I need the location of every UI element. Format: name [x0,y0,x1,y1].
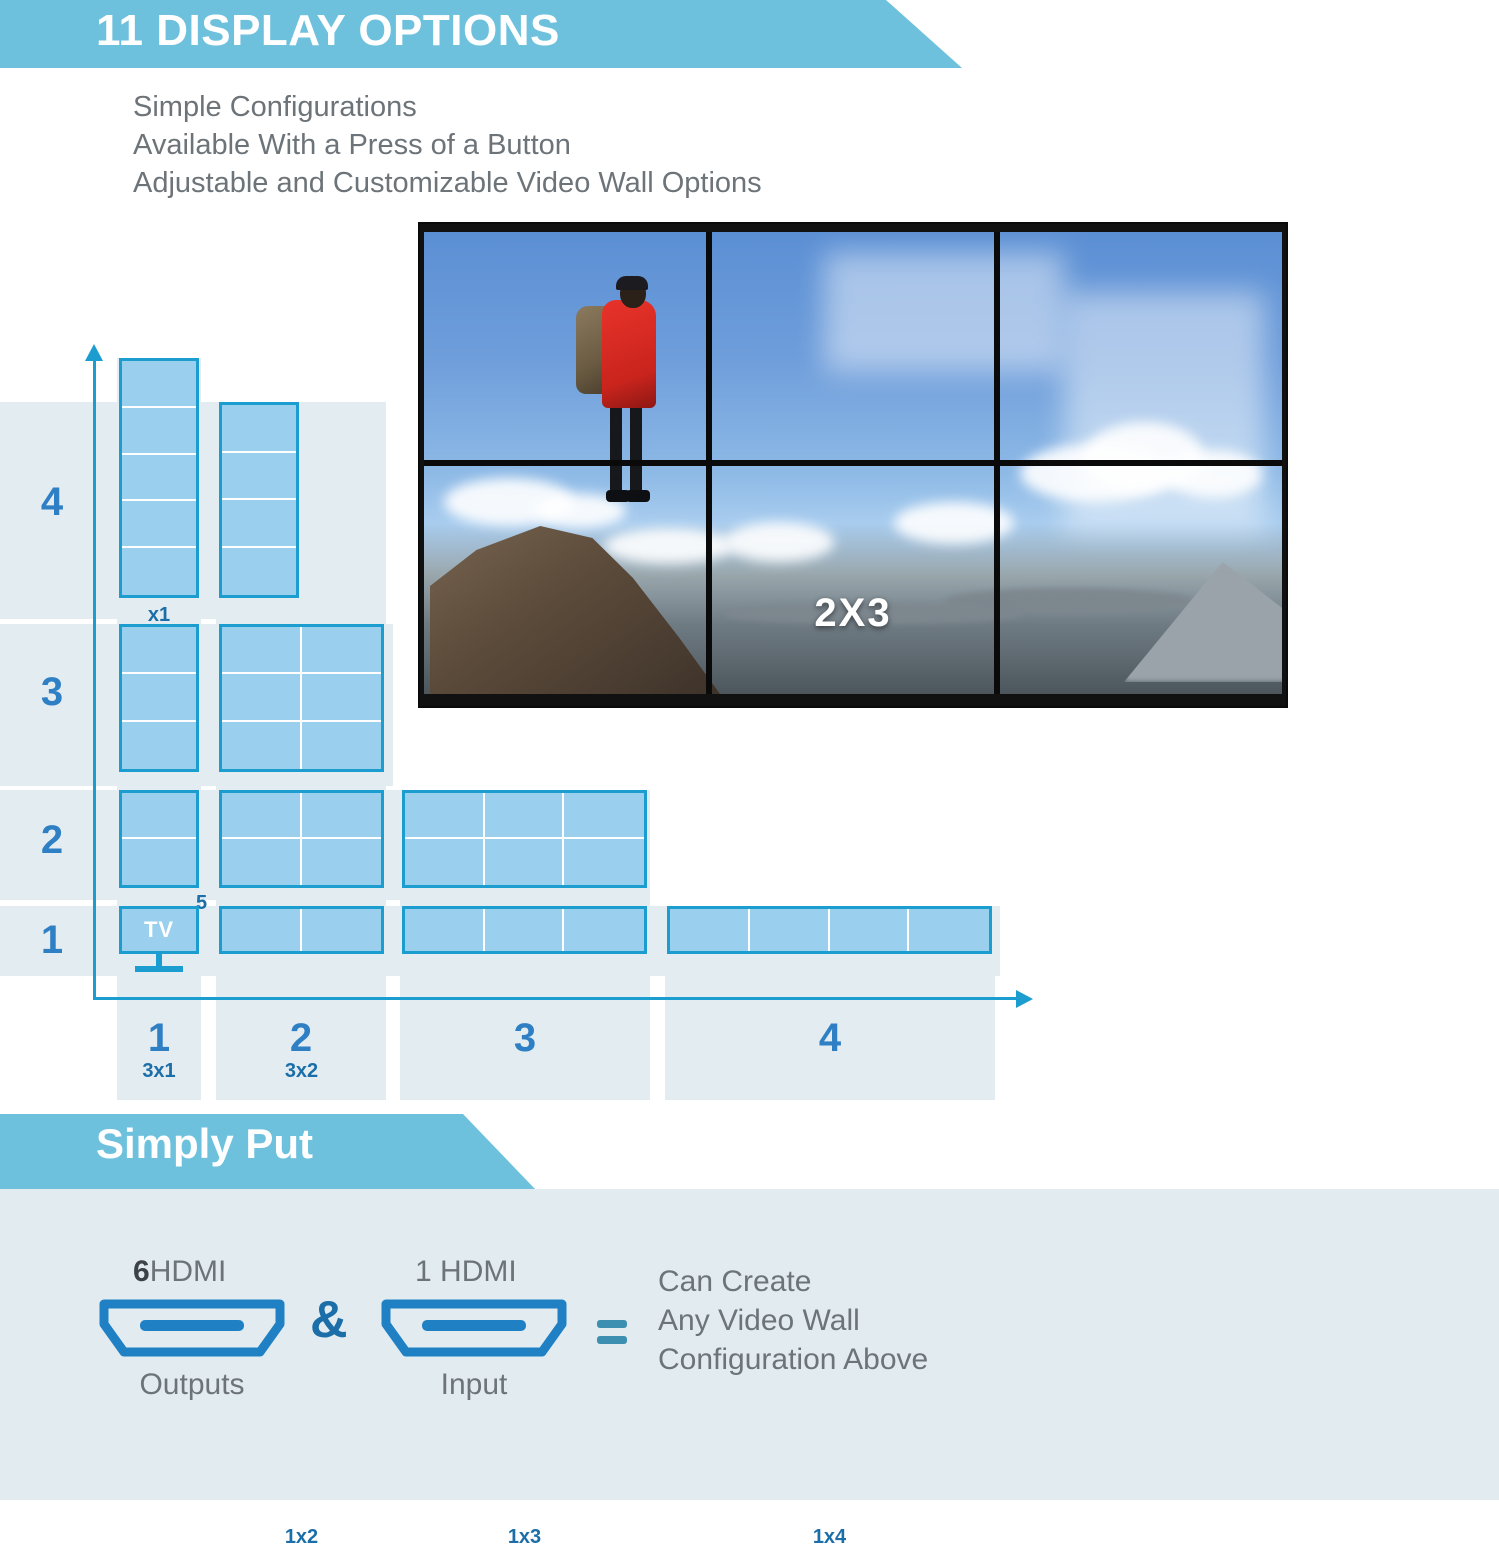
config-tile-1x2[interactable]: 1x2 [219,906,384,954]
hiker-cap [616,276,648,290]
x-tick-2: 2 [241,1016,361,1061]
tile-grid [219,790,384,888]
tile-caption-1x2: 1x2 [285,1526,318,1549]
tile-grid [667,906,992,954]
ampersand-operator: & [310,1290,348,1350]
y-axis-line [93,354,96,1000]
equals-operator-icon [597,1320,627,1352]
tile-grid [119,790,199,888]
hdmi-input-port-icon [378,1298,570,1360]
tv-label: TV [119,906,199,954]
hdmi-outputs-port-icon [96,1298,288,1360]
config-tile-2x2[interactable]: 2x2 [219,790,384,888]
x-tick-3: 3 [465,1016,585,1061]
tile-grid [219,906,384,954]
tile-caption-1x4: 1x4 [813,1526,846,1549]
input-count: 1 [415,1255,432,1288]
tile-caption-3x1: 3x1 [142,1060,175,1083]
page-subtitle: Simple Configurations Available With a P… [133,88,1133,202]
tv-stand-neck-icon [156,954,162,966]
y-tick-4: 4 [22,480,82,525]
tile-grid [402,906,647,954]
outputs-count: 6 [133,1255,150,1288]
config-tile-3x1[interactable]: 3x1 [119,624,199,772]
result-text: Can Create Any Video Wall Configuration … [658,1262,928,1379]
x-tick-1: 1 [99,1016,219,1061]
y-tick-3: 3 [22,670,82,715]
tile-grid [402,790,647,888]
config-tile-1x4[interactable]: 1x4 [667,906,992,954]
config-tile-3x2[interactable]: 3x2 [219,624,384,772]
tile-caption-1x3: 1x3 [508,1526,541,1549]
outputs-label: Outputs [96,1368,288,1402]
config-tile-2x1[interactable]: 2x1 [119,790,199,888]
config-tile-tv[interactable]: TV [119,906,199,954]
y-tick-2: 2 [22,818,82,863]
tv-stand-foot-icon [135,966,183,972]
x-axis-line [93,997,1021,1000]
result-line-1: Can Create [658,1262,928,1301]
config-tile-4x1[interactable]: 4x1 [219,402,299,598]
subtitle-line-1: Simple Configurations [133,88,1133,126]
tile-grid [119,358,199,598]
tile-grid [219,402,299,598]
config-tile-1x3[interactable]: 1x3 [402,906,647,954]
outputs-count-label: 6HDMI [133,1255,226,1289]
simply-put-title: Simply Put [96,1120,313,1168]
y-tick-1: 1 [22,918,82,963]
x-axis-arrow-icon [1016,990,1033,1008]
config-tile-2x3[interactable]: 2x3 [402,790,647,888]
tile-caption-3x2: 3x2 [285,1060,318,1083]
result-line-3: Configuration Above [658,1340,928,1379]
y-axis-arrow-icon [85,344,103,361]
input-unit: HDMI [440,1255,517,1288]
input-label: Input [378,1368,570,1402]
tile-grid [219,624,384,772]
outputs-unit: HDMI [150,1255,227,1288]
subtitle-line-2: Available With a Press of a Button [133,126,1133,164]
page-title: 11 DISPLAY OPTIONS [96,6,560,56]
input-count-label: 1 HDMI [415,1255,517,1289]
x-tick-4: 4 [770,1016,890,1061]
config-tile-5x1[interactable]: x1 [119,358,199,598]
tile-grid [119,624,199,772]
configuration-chart: 4 3 2 1 1 2 3 4 x1 5 4x1 3x1 3x2 [0,340,1120,1100]
subtitle-line-3: Adjustable and Customizable Video Wall O… [133,164,1133,202]
result-line-2: Any Video Wall [658,1301,928,1340]
